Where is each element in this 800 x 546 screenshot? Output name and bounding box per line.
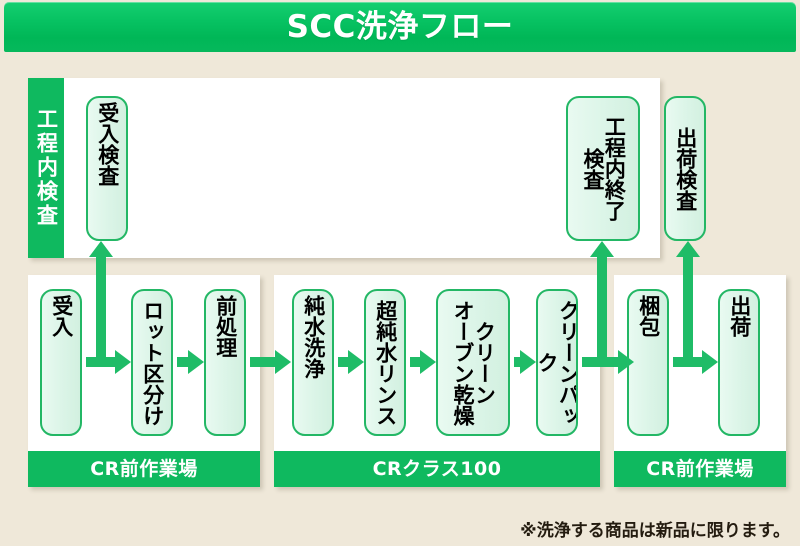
arrow-pure-water-wash-to-ultrapure-rinse [338, 357, 349, 367]
process-box-label: クリーンパック [536, 291, 578, 434]
group-footer-cr-pre-workspace-1: CR前作業場 [28, 451, 260, 487]
process-box-label: 受入 [50, 291, 71, 434]
process-box-lot-sorting[interactable]: ロット区分け [131, 289, 173, 436]
arrow-to-shipping-inspection [683, 256, 693, 362]
group-footer-label: CR前作業場 [646, 460, 754, 479]
page-title: SCC洗浄フロー [287, 12, 514, 43]
process-box-label: ロット区分け [141, 291, 162, 434]
process-box-label: 出荷 [728, 291, 749, 434]
arrow-clean-oven-dry-to-clean-pack [514, 357, 521, 367]
group-footer-cr-pre-workspace-2: CR前作業場 [614, 451, 786, 487]
process-box-incoming-inspection[interactable]: 受入検査 [86, 96, 128, 241]
process-box-label-col-1: クリーン [473, 291, 494, 434]
process-box-label-col-2: オーブン乾燥 [452, 291, 473, 434]
footnote: ※洗浄する商品は新品に限ります。 [520, 523, 790, 540]
process-box-label: 超純水リンス [374, 291, 395, 434]
process-box-clean-oven-dry[interactable]: クリーン オーブン乾燥 [436, 289, 510, 436]
arrow-pretreatment-to-pure-water-wash [250, 357, 276, 367]
title-banner: SCC洗浄フロー [4, 2, 796, 52]
group-footer-label: CRクラス100 [373, 460, 502, 479]
flow-diagram-canvas: SCC洗浄フロー 工程内検査 受入検査 工程内終了 検査 出荷検査 CR前作業場… [0, 0, 800, 546]
arrow-lot-sorting-to-pretreatment [177, 357, 189, 367]
process-box-shipping[interactable]: 出荷 [718, 289, 760, 436]
process-box-pretreatment[interactable]: 前処理 [204, 289, 246, 436]
process-box-label: 出荷検査 [674, 98, 695, 239]
arrow-ultrapure-rinse-to-clean-oven-dry [410, 357, 421, 367]
arrow-to-process-end-inspection [597, 256, 607, 362]
process-box-process-end-inspection[interactable]: 工程内終了 検査 [566, 96, 640, 241]
inspection-sidebar-label: 工程内検査 [28, 78, 64, 258]
process-box-receiving[interactable]: 受入 [40, 289, 82, 436]
process-box-label: 前処理 [214, 291, 235, 434]
group-footer-label: CR前作業場 [90, 460, 198, 479]
process-box-label: 純水洗浄 [302, 291, 323, 434]
process-box-label-col-1: 工程内終了 [603, 98, 624, 239]
process-box-pure-water-wash[interactable]: 純水洗浄 [292, 289, 334, 436]
process-box-clean-pack[interactable]: クリーンパック [536, 289, 578, 436]
process-box-ultrapure-water-rinse[interactable]: 超純水リンス [364, 289, 406, 436]
process-box-label-col-2: 検査 [582, 98, 603, 239]
process-box-shipping-inspection[interactable]: 出荷検査 [664, 96, 706, 241]
process-box-label: 受入検査 [96, 98, 117, 239]
arrow-to-incoming-inspection [96, 256, 106, 362]
group-footer-cr-class-100: CRクラス100 [274, 451, 600, 487]
inspection-sidebar-label-text: 工程内検査 [36, 108, 57, 228]
process-box-label: 梱包 [637, 291, 658, 434]
